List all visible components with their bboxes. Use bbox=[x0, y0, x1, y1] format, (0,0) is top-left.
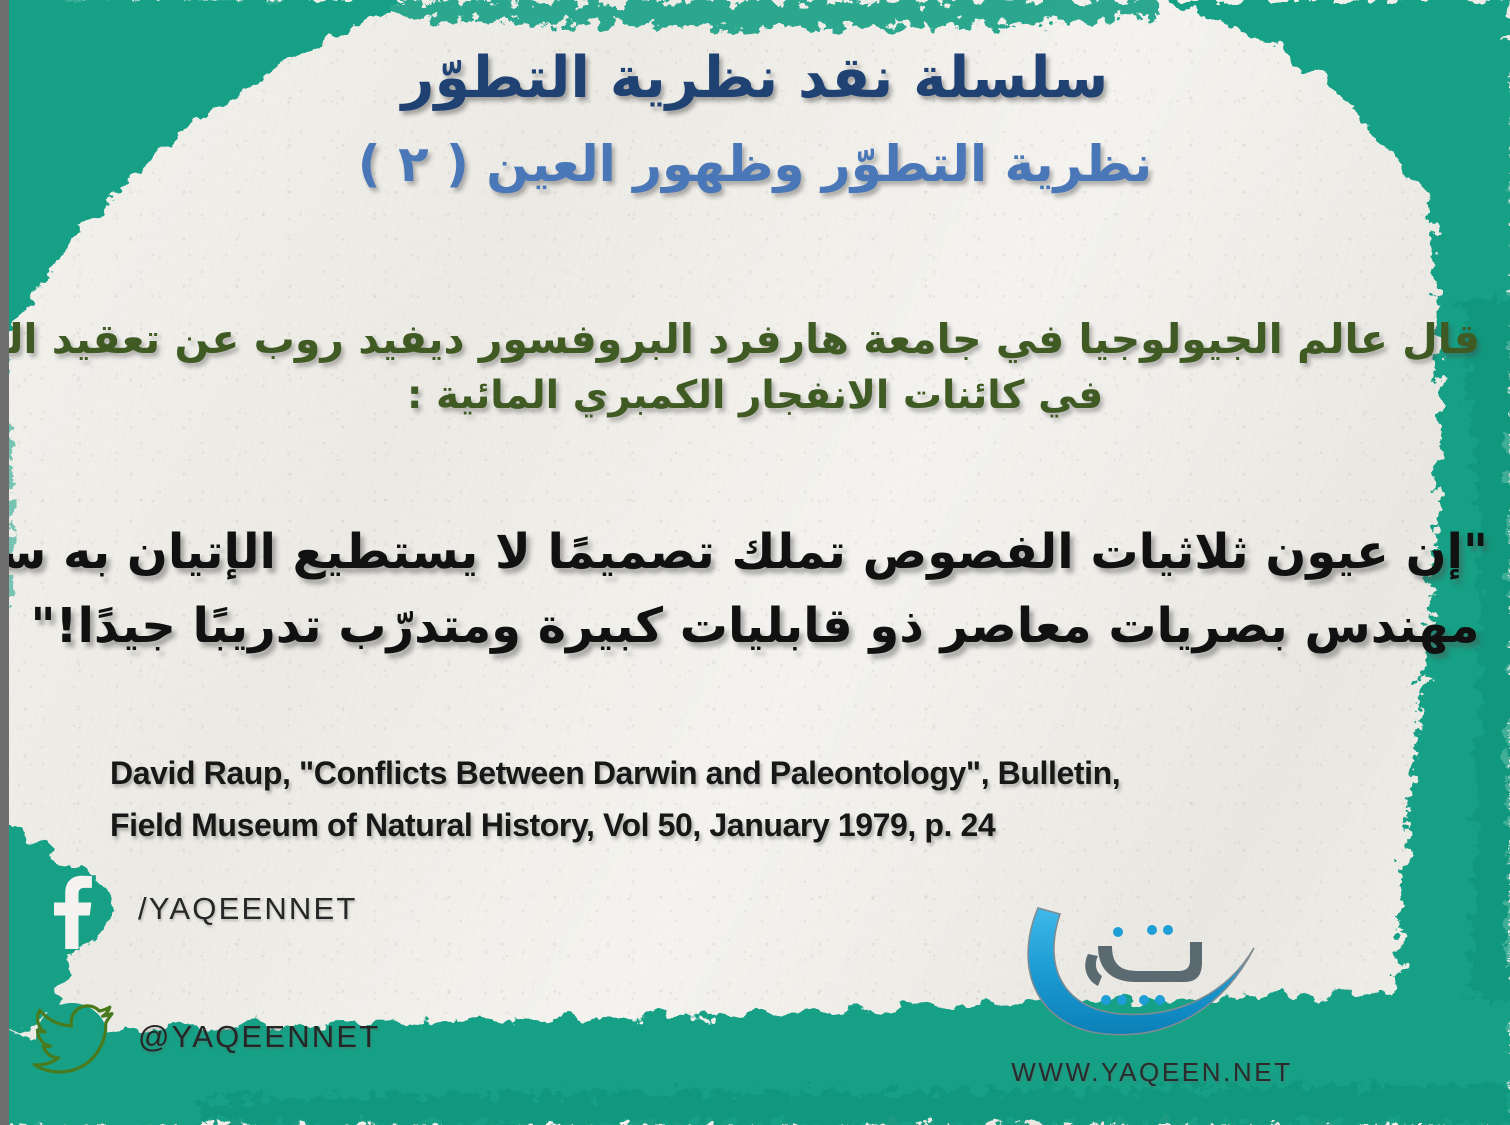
facebook-link[interactable]: /YAQEENNET bbox=[24, 866, 380, 952]
series-title: سلسلة نقد نظرية التطوّر bbox=[0, 46, 1510, 112]
episode-title: نظرية التطوّر وظهور العين ( ٢ ) bbox=[0, 134, 1510, 194]
citation-block: David Raup, "Conflicts Between Darwin an… bbox=[110, 748, 1120, 852]
intro-block: قال عالم الجيولوجيا في جامعة هارفرد البر… bbox=[30, 310, 1480, 424]
left-edge-gutter bbox=[0, 0, 9, 1125]
facebook-handle: /YAQEENNET bbox=[138, 891, 358, 927]
title-block: سلسلة نقد نظرية التطوّر نظرية التطوّر وظ… bbox=[0, 46, 1510, 194]
quote-block: "إن عيون ثلاثيات الفصوص تملك تصميمًا لا … bbox=[22, 515, 1488, 664]
intro-line-2: في كائنات الانفجار الكمبري المائية : bbox=[30, 368, 1480, 423]
intro-line-1: قال عالم الجيولوجيا في جامعة هارفرد البر… bbox=[30, 310, 1480, 368]
social-links: /YAQEENNET @YAQEENNET bbox=[24, 866, 380, 1080]
yaqeen-logo-mark bbox=[1002, 900, 1302, 1050]
twitter-link[interactable]: @YAQEENNET bbox=[24, 994, 380, 1080]
quote-line-1: "إن عيون ثلاثيات الفصوص تملك تصميمًا لا … bbox=[22, 515, 1488, 589]
twitter-handle: @YAQEENNET bbox=[138, 1019, 380, 1055]
poster-canvas: سلسلة نقد نظرية التطوّر نظرية التطوّر وظ… bbox=[0, 0, 1510, 1125]
citation-line-2: Field Museum of Natural History, Vol 50,… bbox=[110, 800, 1120, 852]
citation-line-1: David Raup, "Conflicts Between Darwin an… bbox=[110, 748, 1120, 800]
yaqeen-logo[interactable]: WWW.YAQEEN.NET bbox=[1002, 900, 1302, 1088]
twitter-icon[interactable] bbox=[24, 989, 120, 1085]
facebook-icon[interactable] bbox=[24, 861, 120, 957]
logo-website-url: WWW.YAQEEN.NET bbox=[1002, 1057, 1302, 1088]
quote-line-2: مهندس بصريات معاصر ذو قابليات كبيرة ومتد… bbox=[22, 589, 1488, 663]
